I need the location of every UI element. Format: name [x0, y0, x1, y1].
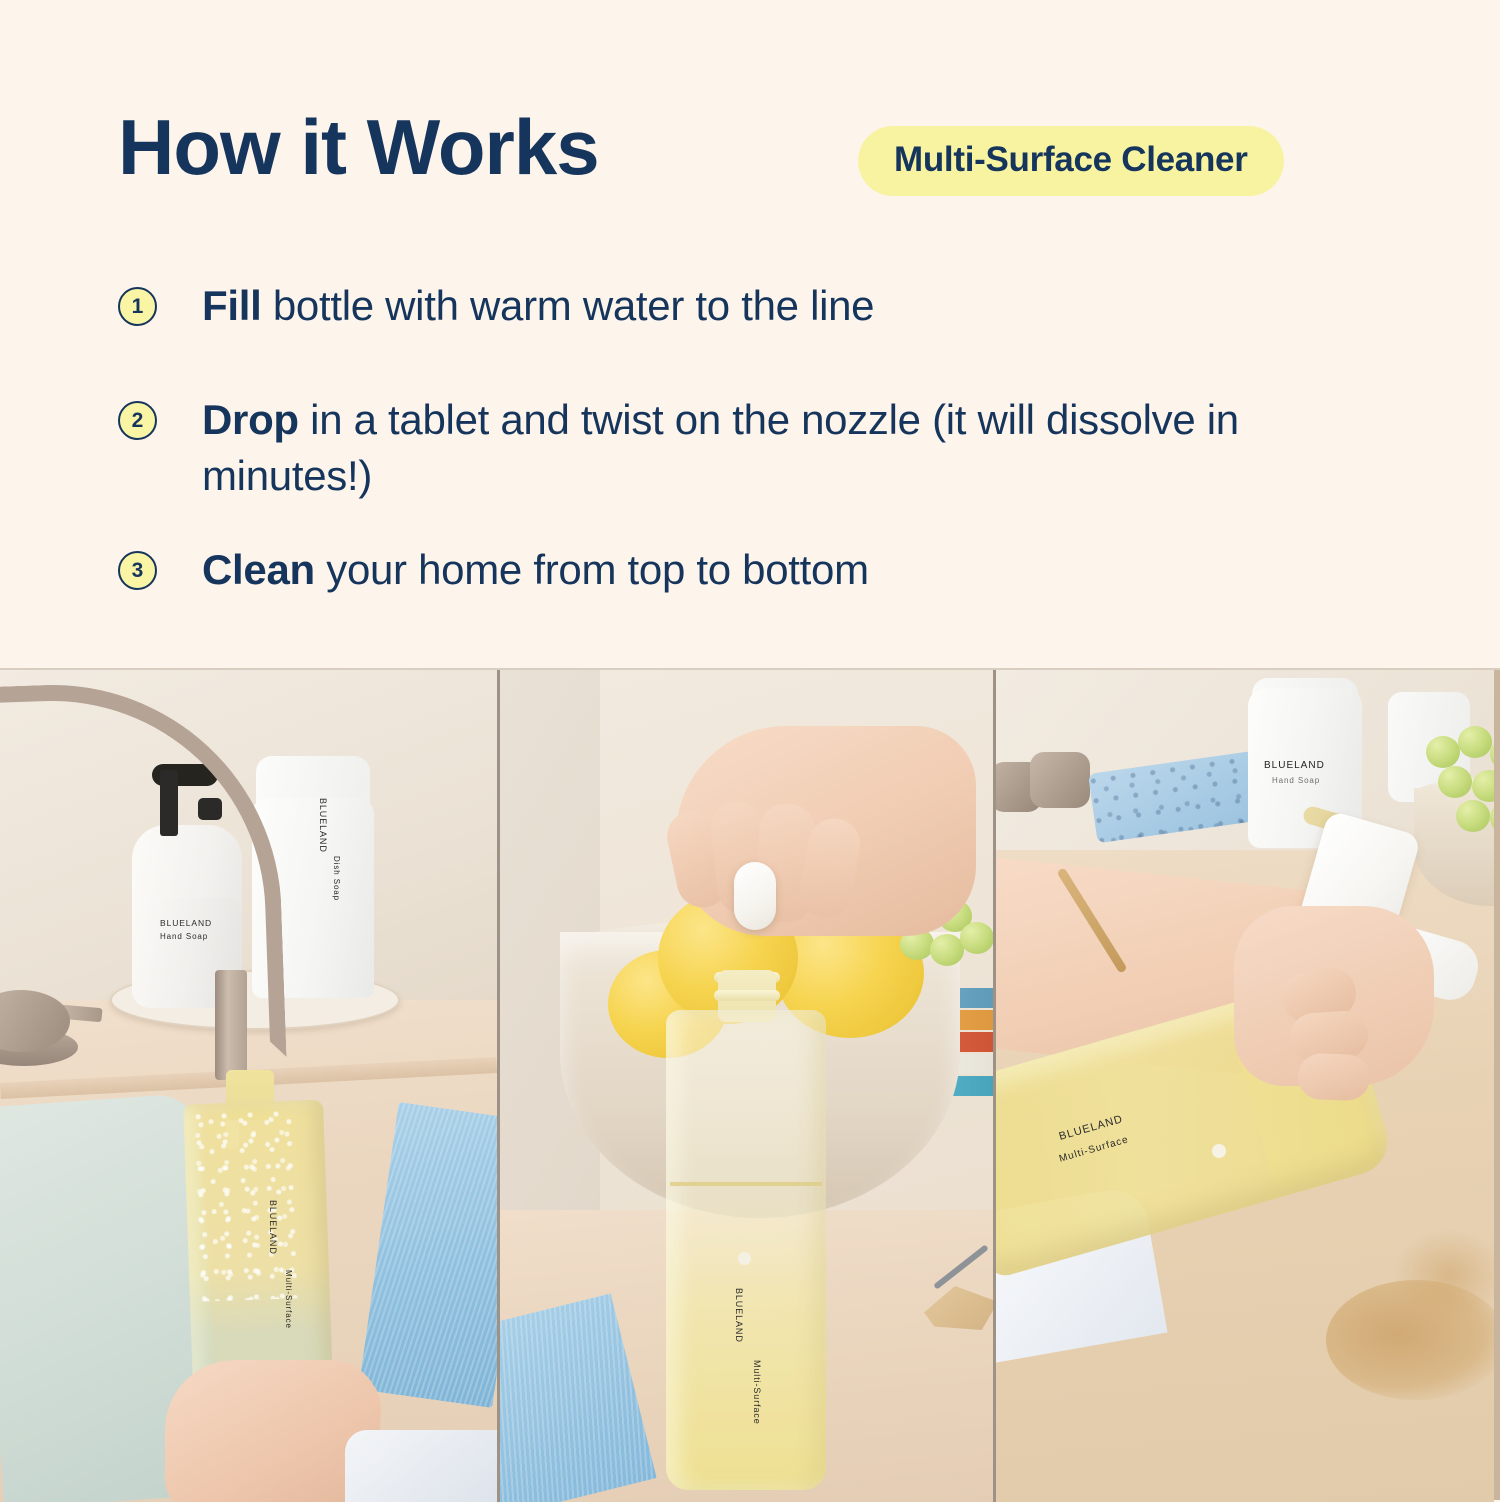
photo2-cleaning-tablet: [734, 862, 776, 930]
step-number-badge-1: 1: [118, 287, 157, 326]
instructions-panel: How it Works Multi-Surface Cleaner 1 Fil…: [0, 0, 1500, 668]
photo3-grape: [1458, 726, 1492, 758]
step-item-2: 2 Drop in a tablet and twist on the nozz…: [118, 392, 1418, 503]
step-text-2: Drop in a tablet and twist on the nozzle…: [202, 392, 1412, 503]
photo3-fingers: [1282, 970, 1452, 1110]
step-item-1: 1 Fill bottle with warm water to the lin…: [118, 278, 1418, 333]
photo-panel-drop: BLUELAND Multi-Surface: [497, 670, 996, 1502]
photo3-grape: [1472, 770, 1494, 802]
photo1-dish-soap-brand-label: BLUELAND: [318, 798, 328, 853]
step-bold-3: Clean: [202, 546, 315, 593]
step-bold-2: Drop: [202, 396, 299, 443]
step-bold-1: Fill: [202, 282, 261, 329]
photo2-fill-line: [670, 1182, 822, 1186]
step-text-3: Clean your home from top to bottom: [202, 542, 869, 597]
photo1-bottle-brand-label: BLUELAND: [268, 1200, 278, 1255]
photo1-dish-soap-product-label: Dish Soap: [332, 856, 341, 901]
product-badge: Multi-Surface Cleaner: [858, 126, 1284, 196]
photo2-bottle-product-label: Multi-Surface: [752, 1360, 762, 1425]
photo3-finger: [1297, 1053, 1371, 1101]
photo3-hand-soap-brand-label: BLUELAND: [1264, 760, 1325, 771]
photo3-hand-soap-product-label: Hand Soap: [1272, 776, 1320, 785]
photo2-grape: [960, 922, 994, 954]
step-rest-3: your home from top to bottom: [315, 546, 869, 593]
photo3-spill: [1326, 1280, 1494, 1400]
photo1-bottle-product-label: Multi-Surface: [284, 1270, 293, 1329]
step-number-badge-3: 3: [118, 551, 157, 590]
photo-panel-fill: BLUELAND Hand Soap BLUELAND Dish Soap BL…: [0, 670, 497, 1502]
photo3-grape: [1456, 800, 1490, 832]
step-text-1: Fill bottle with warm water to the line: [202, 278, 874, 333]
photo3-grapes: [1416, 726, 1494, 826]
photo3-grape: [1438, 766, 1472, 798]
photo2-bottle-thread-2: [714, 990, 780, 1001]
photo3-faucet-knob-1-icon: [1030, 752, 1090, 808]
photo2-spray-bottle: [666, 1010, 826, 1490]
photo1-sleeve: [345, 1430, 497, 1502]
step-rest-1: bottle with warm water to the line: [261, 282, 874, 329]
photo-strip: BLUELAND Hand Soap BLUELAND Dish Soap BL…: [0, 668, 1500, 1500]
photo2-bottle-dot: [738, 1252, 751, 1265]
photo1-faucet-spout-icon: [215, 970, 247, 1080]
photo3-grape: [1426, 736, 1460, 768]
header-row: How it Works Multi-Surface Cleaner: [118, 112, 1418, 212]
step-item-3: 3 Clean your home from top to bottom: [118, 542, 1418, 597]
photo2-bottle-brand-label: BLUELAND: [734, 1288, 744, 1343]
photo-panel-clean: BLUELAND Hand Soap BLUELAND Multi-Surfac…: [996, 670, 1494, 1502]
photo2-grape: [930, 934, 964, 966]
photo3-bottle-dot: [1212, 1144, 1226, 1158]
page-title: How it Works: [118, 108, 599, 186]
step-rest-2: in a tablet and twist on the nozzle (it …: [202, 396, 1239, 498]
step-number-badge-2: 2: [118, 401, 157, 440]
steps-list: 1 Fill bottle with warm water to the lin…: [118, 278, 1418, 598]
